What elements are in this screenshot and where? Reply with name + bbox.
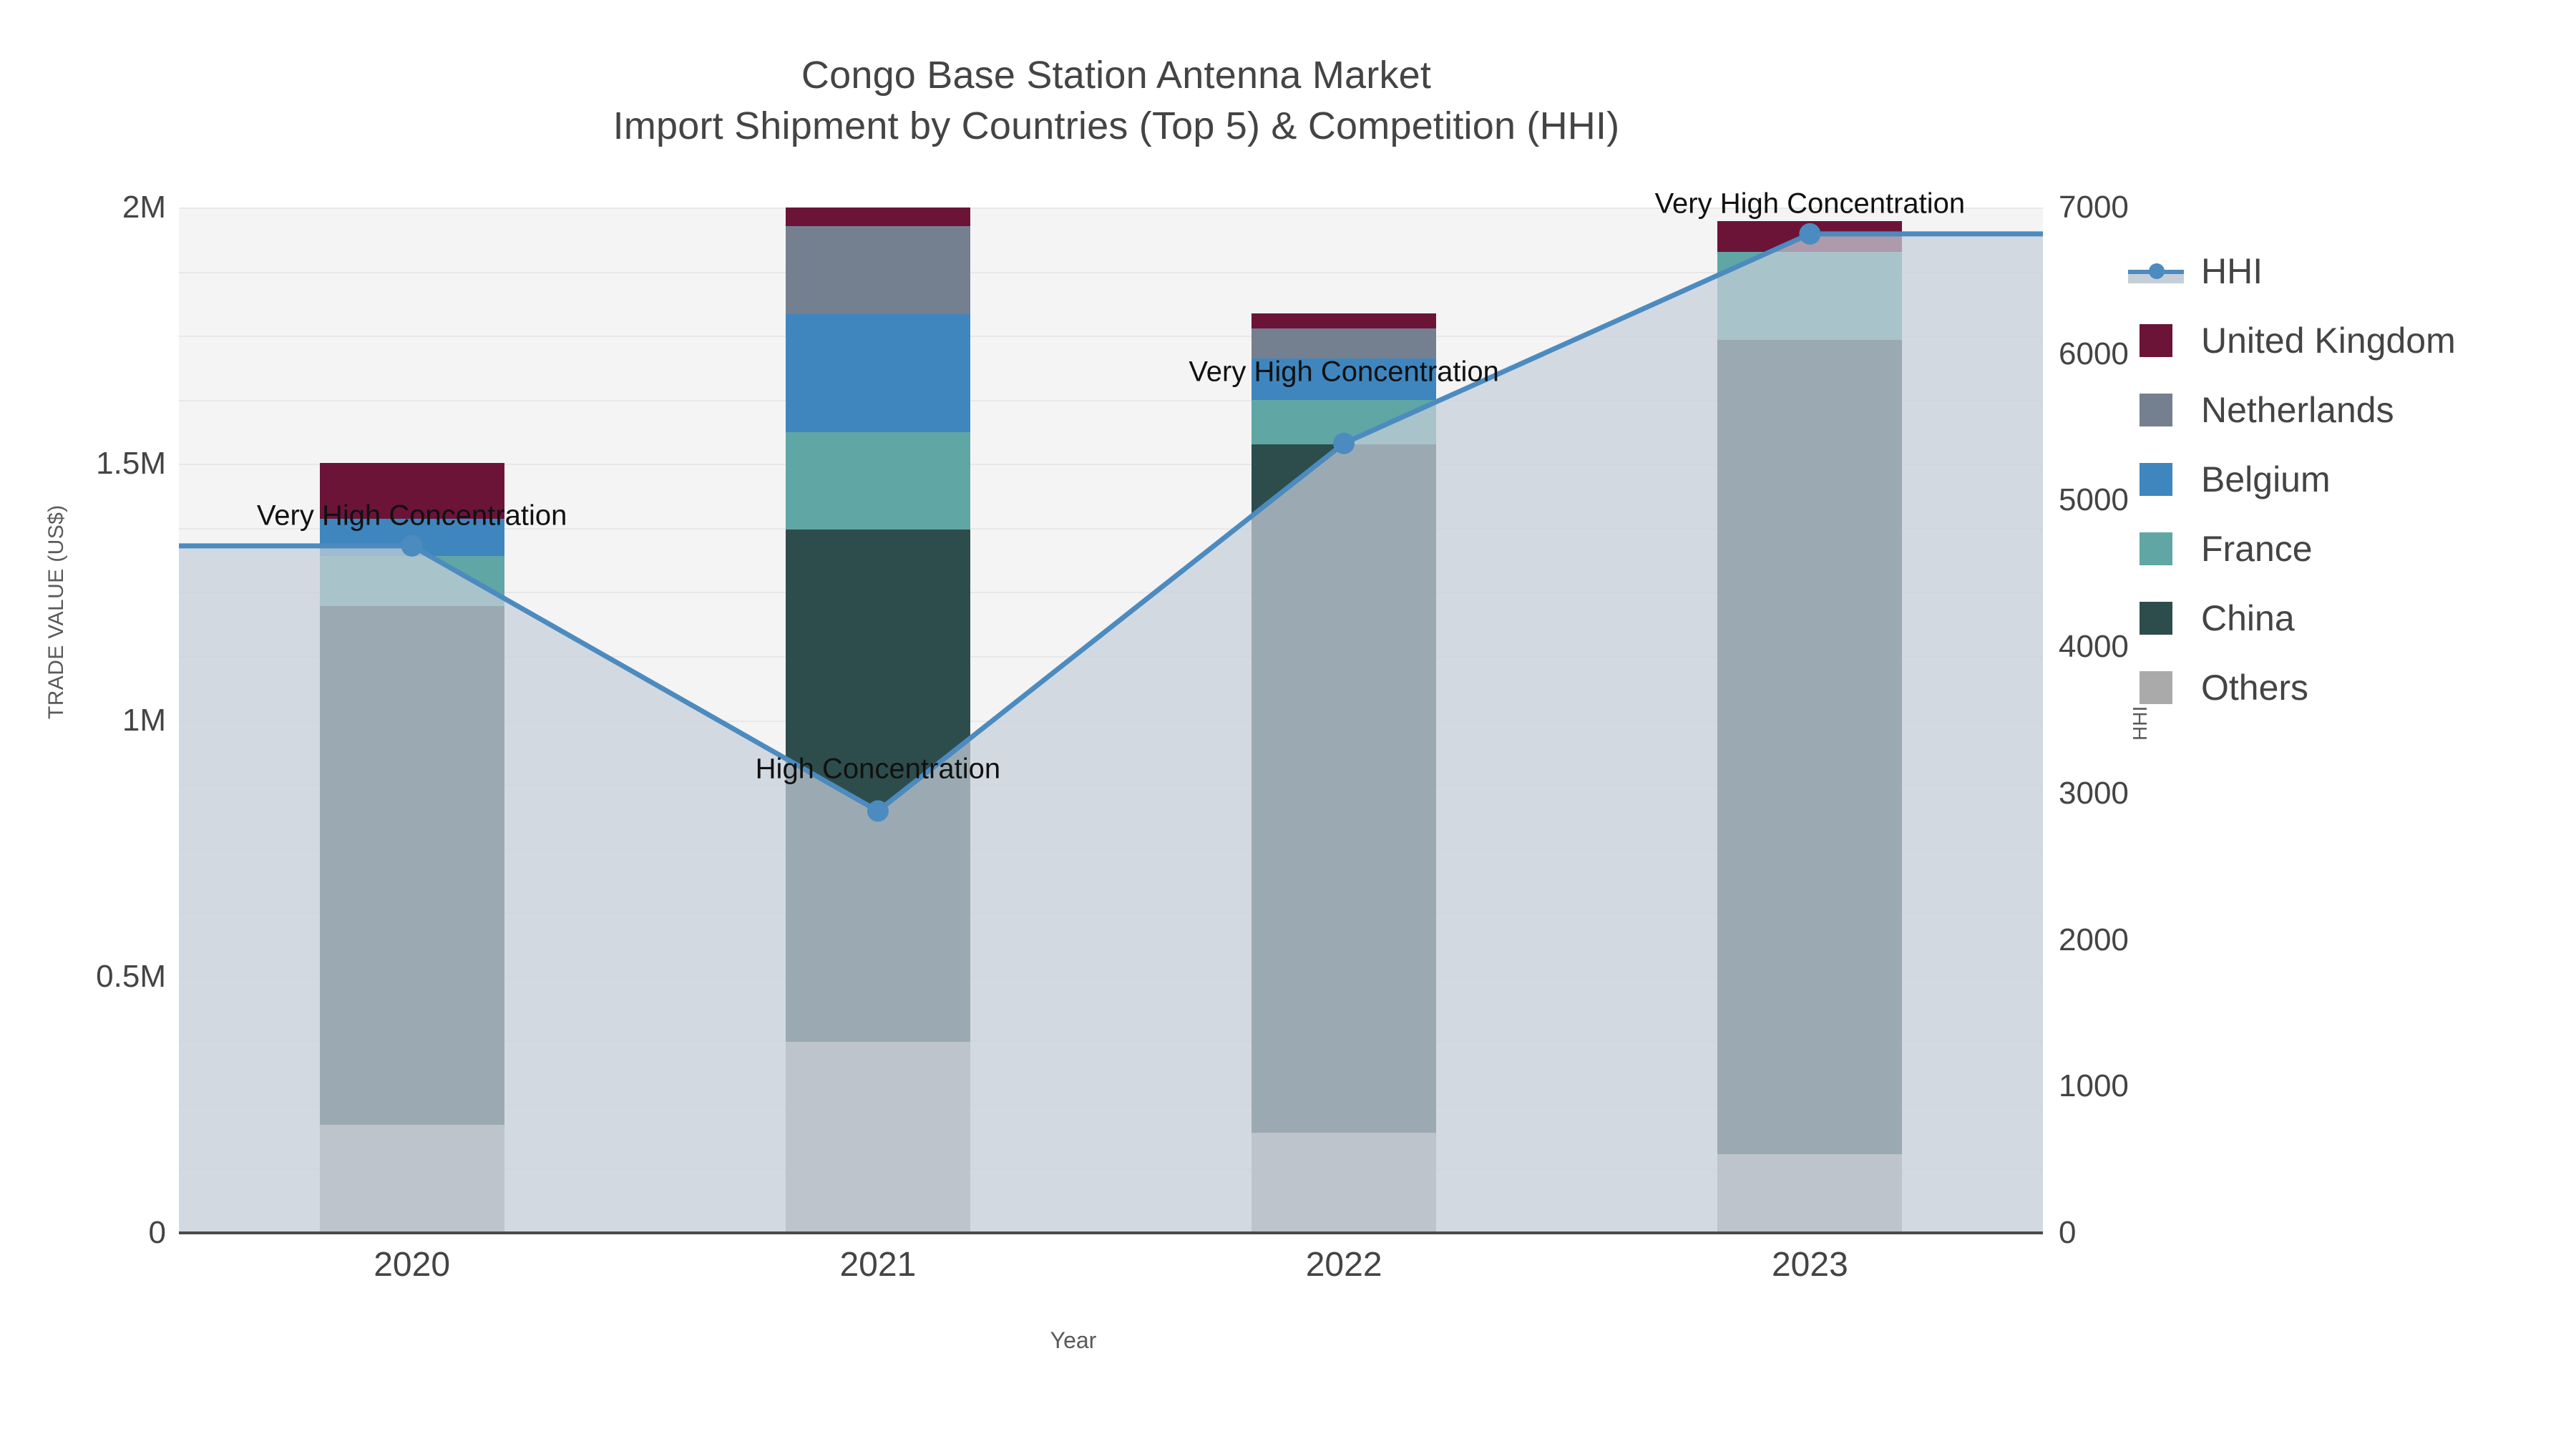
legend-label: France — [2201, 528, 2313, 570]
legend-item-belgium[interactable]: Belgium — [2140, 444, 2569, 514]
legend-label: Netherlands — [2201, 389, 2394, 431]
legend-label: HHI — [2201, 250, 2263, 292]
bar-segment-france[interactable] — [1252, 400, 1436, 444]
y-right-tick: 3000 — [2059, 776, 2129, 811]
y-right-tick: 0 — [2059, 1215, 2076, 1251]
bar-segment-france[interactable] — [786, 432, 970, 530]
bar-segment-netherlands[interactable] — [786, 226, 970, 314]
title-line-1: Congo Base Station Antenna Market — [0, 50, 2233, 101]
bar-segment-united-kingdom[interactable] — [1717, 221, 1902, 252]
bar-group-2021[interactable] — [786, 208, 970, 1233]
bar-segment-france[interactable] — [1717, 252, 1902, 340]
legend-item-united-kingdom[interactable]: United Kingdom — [2140, 306, 2569, 375]
legend-item-china[interactable]: China — [2140, 583, 2569, 653]
y-left-tick: 1M — [0, 703, 166, 738]
legend-line-dot — [2149, 263, 2165, 279]
y-right-tick: 5000 — [2059, 482, 2129, 518]
legend-item-france[interactable]: France — [2140, 514, 2569, 583]
bar-segment-china[interactable] — [1252, 444, 1436, 1133]
bar-group-2020[interactable] — [320, 208, 504, 1233]
bar-segment-china[interactable] — [786, 530, 970, 1043]
bar-segment-others[interactable] — [1252, 1133, 1436, 1233]
bar-segment-belgium[interactable] — [786, 314, 970, 432]
x-axis-title: Year — [930, 1327, 1216, 1354]
y-left-tick: 0 — [0, 1215, 166, 1251]
bar-group-2023[interactable] — [1717, 208, 1902, 1233]
bar-segment-united-kingdom[interactable] — [786, 208, 970, 226]
legend-swatch-icon — [2140, 394, 2172, 426]
bar-segment-others[interactable] — [1717, 1154, 1902, 1233]
y-right-tick: 1000 — [2059, 1068, 2129, 1104]
bar-segment-netherlands[interactable] — [1252, 328, 1436, 358]
legend-label: Others — [2201, 667, 2308, 708]
bar-segment-china[interactable] — [320, 606, 504, 1125]
chart-title: Congo Base Station Antenna Market Import… — [0, 50, 2233, 152]
plot-area — [179, 208, 2043, 1233]
annotation-2020: Very High Concentration — [257, 499, 567, 532]
chart-root: Congo Base Station Antenna Market Import… — [0, 0, 2576, 1449]
legend-item-hhi[interactable]: HHI — [2140, 236, 2569, 306]
legend-label: United Kingdom — [2201, 320, 2456, 361]
y-right-tick: 7000 — [2059, 190, 2129, 225]
annotation-2021: High Concentration — [756, 753, 1000, 786]
legend-item-netherlands[interactable]: Netherlands — [2140, 375, 2569, 444]
legend-swatch-icon — [2140, 532, 2172, 565]
title-line-2: Import Shipment by Countries (Top 5) & C… — [0, 101, 2233, 152]
x-axis-line — [179, 1231, 2043, 1234]
bar-segment-france[interactable] — [320, 556, 504, 606]
y-right-tick: 4000 — [2059, 629, 2129, 665]
legend-swatch-icon — [2140, 602, 2172, 635]
annotation-2022: Very High Concentration — [1189, 356, 1499, 388]
y-right-tick: 6000 — [2059, 336, 2129, 372]
legend-swatch-icon — [2140, 324, 2172, 357]
bar-segment-others[interactable] — [320, 1125, 504, 1233]
bar-segment-china[interactable] — [1717, 340, 1902, 1154]
y-left-tick: 2M — [0, 190, 166, 225]
legend-label: Belgium — [2201, 459, 2331, 500]
y-left-tick: 1.5M — [0, 446, 166, 482]
bar-segment-united-kingdom[interactable] — [1252, 313, 1436, 328]
legend-label: China — [2201, 597, 2295, 639]
y-axis-left-title: TRADE VALUE (US$) — [44, 504, 69, 719]
legend-item-others[interactable]: Others — [2140, 653, 2569, 722]
annotation-2023: Very High Concentration — [1655, 187, 1966, 220]
y-right-tick: 2000 — [2059, 922, 2129, 958]
x-tick-2021: 2021 — [771, 1245, 985, 1284]
legend: HHIUnited KingdomNetherlandsBelgiumFranc… — [2140, 236, 2569, 722]
x-tick-2023: 2023 — [1702, 1245, 1917, 1284]
legend-line-icon — [2140, 255, 2172, 288]
legend-swatch-icon — [2140, 671, 2172, 704]
bar-segment-others[interactable] — [786, 1042, 970, 1233]
x-tick-2020: 2020 — [305, 1245, 519, 1284]
x-tick-2022: 2022 — [1236, 1245, 1451, 1284]
y-left-tick: 0.5M — [0, 959, 166, 995]
legend-swatch-icon — [2140, 463, 2172, 496]
